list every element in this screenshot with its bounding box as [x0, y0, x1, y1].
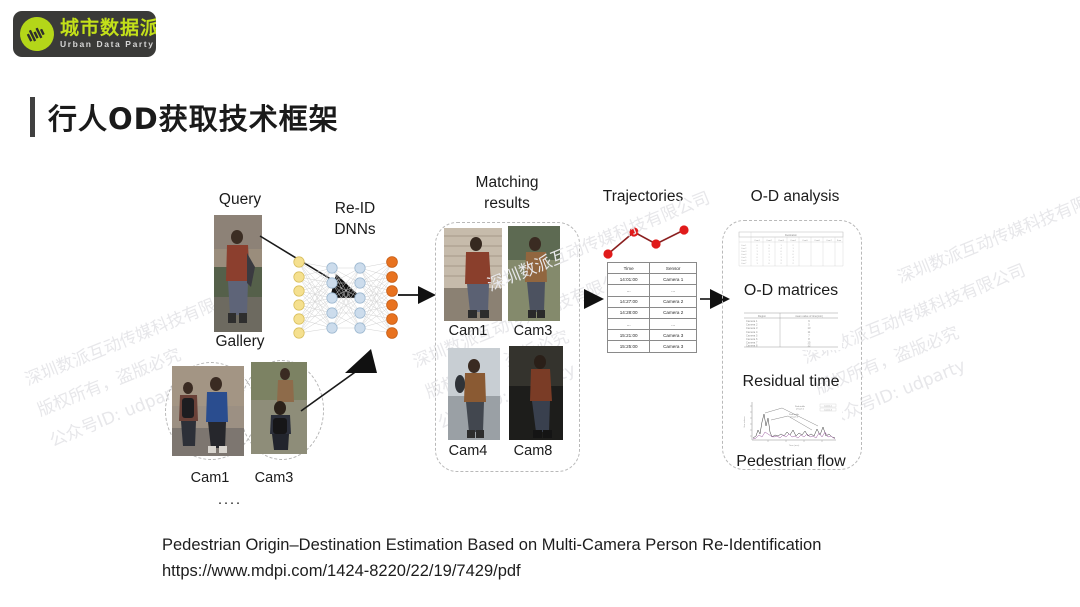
col-time: Time [608, 263, 650, 274]
caption-url[interactable]: https://www.mdpi.com/1424-8220/22/19/742… [162, 559, 821, 585]
query-photo [214, 215, 262, 332]
od-matrices-label: O-D matrices [722, 282, 860, 300]
caption-title: Pedestrian Origin–Destination Estimation… [162, 533, 821, 559]
svg-text:Peak traffic: Peak traffic [795, 405, 805, 408]
gallery-label: Gallery [180, 333, 300, 351]
trajectories-label: Trajectories [588, 188, 698, 206]
gallery-ellipsis: .... [178, 492, 282, 508]
col-sensor: Sensor [650, 263, 697, 274]
svg-text:Region: Region [758, 314, 767, 318]
page-title-group: 行人OD获取技术框架 [30, 96, 339, 138]
match-photo-cam8 [509, 346, 563, 440]
trajectory-table: Time Sensor 14:01:00 Camera 1 ... ... 14… [607, 262, 697, 353]
cell-sensor: Camera 3 [650, 330, 697, 341]
svg-text:Camera 6: Camera 6 [746, 337, 758, 341]
gallery-photo-cam1 [172, 366, 244, 456]
table-row: 14:27:00 Camera 2 [608, 296, 697, 307]
svg-text:Camera 8: Camera 8 [746, 344, 758, 348]
svg-text:Camera 3: Camera 3 [746, 326, 758, 330]
svg-text:flow volume: flow volume [744, 415, 746, 427]
table-row: ... ... [608, 285, 697, 296]
table-row: 14:28:00 Camera 2 [608, 307, 697, 318]
svg-text:Cam7: Cam7 [826, 240, 832, 242]
svg-text:Cam5: Cam5 [802, 240, 808, 242]
svg-text:mean value of time(min): mean value of time(min) [795, 314, 823, 318]
cell-sensor: Camera 2 [650, 296, 697, 307]
reid-label-line1: Re-ID [305, 200, 405, 218]
svg-text:of Cam 3: of Cam 3 [790, 417, 799, 419]
cell-time: ... [608, 318, 650, 329]
page-title: 行人OD获取技术框架 [48, 96, 339, 138]
od-analysis-label: O-D analysis [730, 188, 860, 206]
cell-time: 15:25:00 [608, 341, 650, 352]
table-row: ... ... [608, 318, 697, 329]
arrow-network-to-matching [398, 282, 438, 308]
cell-time: 14:27:00 [608, 296, 650, 307]
svg-text:Time (min): Time (min) [789, 445, 800, 447]
svg-text:Cam2: Cam2 [741, 248, 747, 250]
svg-text:Cam4: Cam4 [741, 254, 747, 256]
svg-text:Camera 2: Camera 2 [746, 323, 758, 327]
cell-sensor: ... [650, 318, 697, 329]
match-cam3-label: Cam3 [500, 323, 566, 339]
table-header-row: Time Sensor [608, 263, 697, 274]
svg-text:Cam3: Cam3 [778, 240, 784, 242]
match-cam8-label: Cam8 [500, 443, 566, 459]
table-row: 15:21:00 Camera 3 [608, 330, 697, 341]
svg-text:Cam6: Cam6 [814, 240, 820, 242]
table-row: 14:01:00 Camera 1 [608, 274, 697, 285]
match-photo-cam3 [508, 226, 560, 321]
svg-text:Cam1: Cam1 [754, 240, 760, 242]
residual-time-thumbnail: Region mean value of time(min) Camera 1C… [740, 308, 842, 350]
svg-text:Cam3: Cam3 [741, 251, 747, 253]
matching-label-line1: Matching [452, 174, 562, 192]
cell-time: 14:01:00 [608, 274, 650, 285]
framework-diagram: Query Gallery [0, 160, 1080, 510]
cell-sensor: Camera 1 [650, 274, 697, 285]
logo-chinese-text: 城市数据派 [60, 19, 156, 38]
svg-text:Camera 1: Camera 1 [824, 405, 832, 407]
table-row: 15:25:00 Camera 3 [608, 341, 697, 352]
cell-sensor: ... [650, 285, 697, 296]
slide: 城市数据派 Urban Data Party 行人OD获取技术框架 深圳数派互动… [0, 0, 1080, 607]
arrow-gallery-to-network [295, 335, 385, 415]
svg-text:Camera 5: Camera 5 [746, 333, 758, 337]
svg-text:Camera 1: Camera 1 [746, 319, 758, 323]
svg-text:Camera 3: Camera 3 [824, 409, 832, 411]
cell-time: 15:21:00 [608, 330, 650, 341]
brand-logo: 城市数据派 Urban Data Party [13, 11, 156, 57]
svg-text:Cam4: Cam4 [790, 240, 796, 242]
neural-network-graphic [290, 256, 402, 340]
svg-text:Cam2: Cam2 [766, 240, 772, 242]
logo-english-text: Urban Data Party [60, 40, 156, 49]
cell-sensor: Camera 2 [650, 307, 697, 318]
logo-circle-icon [18, 15, 56, 53]
gallery-cam3-label: Cam3 [222, 470, 326, 486]
matching-label-line2: results [452, 195, 562, 213]
match-cam1-label: Cam1 [435, 323, 501, 339]
svg-text:Peak traffic: Peak traffic [789, 413, 799, 416]
svg-text:Cam1: Cam1 [741, 245, 747, 247]
cell-sensor: Camera 3 [650, 341, 697, 352]
query-label: Query [180, 191, 300, 209]
svg-text:Cam6: Cam6 [741, 260, 747, 262]
title-accent-bar [30, 97, 35, 137]
residual-time-label: Residual time [722, 373, 860, 391]
reid-label-line2: DNNs [305, 221, 405, 239]
cell-time: ... [608, 285, 650, 296]
od-matrix-thumbnail: Destination Cam1Cam2Cam3 Cam4Cam5Cam6 [735, 228, 847, 272]
pedestrian-flow-thumbnail: flow volume Time (min) Peak traffic of C… [738, 396, 842, 450]
svg-text:of Cam 1: of Cam 1 [796, 409, 805, 411]
svg-text:Camera 4: Camera 4 [746, 330, 758, 334]
svg-text:Sum: Sum [837, 240, 842, 242]
source-caption: Pedestrian Origin–Destination Estimation… [162, 533, 821, 584]
arrow-matching-to-trajectories [578, 286, 608, 312]
cell-time: 14:28:00 [608, 307, 650, 318]
svg-text:Destination: Destination [785, 234, 798, 237]
match-photo-cam4 [448, 348, 500, 440]
svg-text:Cam5: Cam5 [741, 257, 747, 259]
svg-text:Cam7: Cam7 [741, 263, 747, 265]
match-cam4-label: Cam4 [435, 443, 501, 459]
pedestrian-flow-label: Pedestrian flow [722, 453, 860, 471]
trajectory-line-chart [600, 222, 696, 266]
match-photo-cam1 [444, 228, 502, 321]
